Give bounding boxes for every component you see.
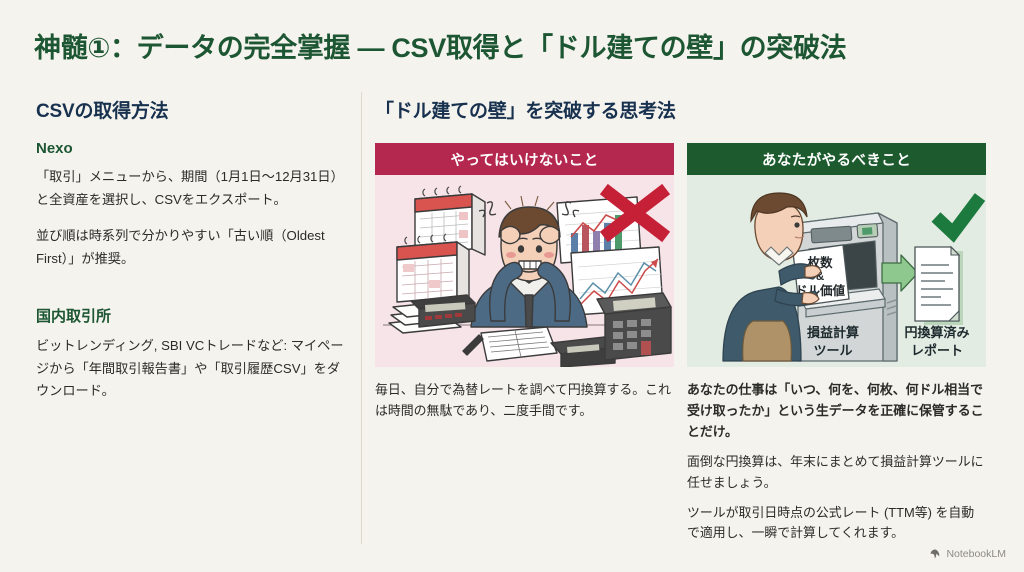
panel-should-do-header: あなたがやるべきこと <box>687 143 986 175</box>
watermark-label: NotebookLM <box>946 548 1006 560</box>
left-section-nexo-paragraph-2: 並び順は時系列で分かりやすい「古い順（Oldest First）」が推奨。 <box>36 225 348 270</box>
section-spacer <box>36 271 348 305</box>
left-section-nexo: Nexo 「取引」メニューから、期間（1月1日〜12月31日）と全資産を選択し、… <box>36 140 348 271</box>
left-column-heading: CSVの取得方法 <box>36 96 348 123</box>
left-section-nexo-subheading: Nexo <box>36 140 348 157</box>
report-label-line1: 円換算済み <box>904 325 969 340</box>
machine-label-line2: ツール <box>813 343 852 358</box>
panel-dont-do-illustration: .ln{stroke:#3b3b3b;stroke-width:1.4;fill… <box>375 175 674 367</box>
left-section-domestic-paragraph-1: ビットレンディング, SBI VCトレードなど: マイページから「年間取引報告書… <box>36 335 348 403</box>
right-column-heading: 「ドル建ての壁」を突破する思考法 <box>375 96 990 123</box>
panel-should-do-illustration: 枚数 & ドル価値 <box>687 175 986 367</box>
left-section-domestic-exchanges: 国内取引所 ビットレンディング, SBI VCトレードなど: マイページから「年… <box>36 305 348 403</box>
slide-root: 神髄①：データの完全掌握 ― CSV取得と「ドル建ての壁」の突破法 CSVの取得… <box>0 0 1024 572</box>
comparison-panels: やってはいけないこと .ln{stroke:#3b3b3b;stroke-wid… <box>375 143 990 544</box>
watermark: NotebookLM <box>929 548 1006 560</box>
desktop-calculator-icon <box>597 293 671 360</box>
right-column: 「ドル建ての壁」を突破する思考法 やってはいけないこと .ln{stroke:#… <box>375 96 990 544</box>
notebooklm-logo-icon <box>929 548 941 560</box>
tax-tool-machine-illustration: 枚数 & ドル価値 <box>687 175 986 367</box>
page-title: 神髄①：データの完全掌握 ― CSV取得と「ドル建ての壁」の突破法 <box>34 26 846 65</box>
machine-label-line1: 損益計算 <box>807 325 859 340</box>
panel-dont-do: やってはいけないこと .ln{stroke:#3b3b3b;stroke-wid… <box>375 143 674 544</box>
left-section-nexo-paragraph-1: 「取引」メニューから、期間（1月1日〜12月31日）と全資産を選択し、CSVをエ… <box>36 166 348 211</box>
panel-should-do-caption-3: ツールが取引日時点の公式レート (TTM等) を自動で適用し、一瞬で計算してくれ… <box>687 503 986 545</box>
panel-dont-do-caption-1: 毎日、自分で為替レートを調べて円換算する。これは時間の無駄であり、二度手間です。 <box>375 380 674 422</box>
report-label-line2: レポート <box>911 343 963 358</box>
panel-should-do-caption-1: あなたの仕事は「いつ、何を、何枚、何ドル相当で受け取ったか」という生データを正確… <box>687 380 986 443</box>
output-report <box>915 247 963 325</box>
panel-dont-do-header: やってはいけないこと <box>375 143 674 175</box>
panel-should-do-caption-2: 面倒な円換算は、年末にまとめて損益計算ツールに任せましょう。 <box>687 452 986 494</box>
calculator-icon <box>411 295 475 327</box>
column-divider <box>361 92 362 544</box>
left-column: CSVの取得方法 Nexo 「取引」メニューから、期間（1月1日〜12月31日）… <box>36 96 348 403</box>
stressed-businessman-illustration: .ln{stroke:#3b3b3b;stroke-width:1.4;fill… <box>375 175 674 367</box>
panel-should-do: あなたがやるべきこと <box>687 143 986 544</box>
left-section-domestic-subheading: 国内取引所 <box>36 305 348 326</box>
